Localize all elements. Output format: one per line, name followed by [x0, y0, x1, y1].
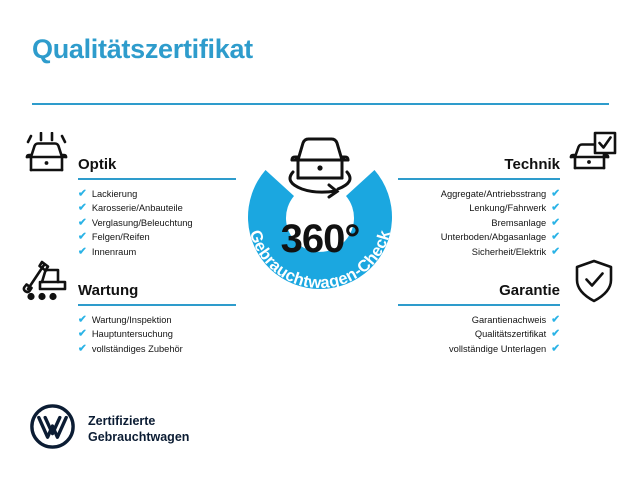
check-icon: ✔ — [551, 232, 560, 243]
list-item-label: Innenraum — [92, 247, 136, 257]
list-item-label: Unterboden/Abgasanlage — [441, 232, 546, 242]
check-icon: ✔ — [551, 203, 560, 214]
section-optik: Optik ✔ Lackierung ✔ Karosserie/Anbautei… — [78, 140, 236, 257]
section-garantie-header: Garantie — [398, 266, 560, 300]
section-technik-items: Aggregate/Antriebsstrang ✔ Lenkung/Fahrw… — [398, 189, 560, 258]
list-item: vollständige Unterlagen ✔ — [398, 344, 560, 355]
car-shine-icon — [22, 132, 72, 181]
list-item-label: Aggregate/Antriebsstrang — [441, 189, 546, 199]
wrench-car-icon — [20, 258, 72, 307]
section-divider — [78, 178, 236, 180]
check-icon: ✔ — [551, 246, 560, 257]
section-title: Garantie — [499, 283, 560, 300]
list-item: Sicherheit/Elektrik ✔ — [398, 247, 560, 258]
title-divider — [32, 103, 609, 105]
check-icon: ✔ — [78, 329, 87, 340]
list-item: Aggregate/Antriebsstrang ✔ — [398, 189, 560, 200]
list-item: Bremsanlage ✔ — [398, 218, 560, 229]
list-item-label: Garantienachweis — [472, 315, 546, 325]
check-icon: ✔ — [78, 188, 87, 199]
quality-certificate-page: Qualitätszertifikat — [0, 0, 640, 480]
list-item: ✔ vollständiges Zubehör — [78, 344, 236, 355]
footer-branding: Zertifizierte Gebrauchtwagen — [30, 404, 189, 454]
section-technik: Technik Aggregate/Antriebsstrang ✔ Lenku… — [398, 140, 560, 257]
car-front-rotate-icon — [290, 139, 350, 197]
list-item: ✔ Lackierung — [78, 189, 236, 200]
list-item-label: Wartung/Inspektion — [92, 315, 172, 325]
check-icon: ✔ — [78, 217, 87, 228]
list-item-label: Bremsanlage — [491, 218, 546, 228]
list-item: Unterboden/Abgasanlage ✔ — [398, 232, 560, 243]
check-icon: ✔ — [78, 314, 87, 325]
list-item-label: Hauptuntersuchung — [92, 329, 173, 339]
section-optik-header: Optik — [78, 140, 236, 174]
check-icon: ✔ — [551, 217, 560, 228]
check-icon: ✔ — [551, 329, 560, 340]
section-garantie-items: Garantienachweis ✔ Qualitätszertifikat ✔… — [398, 315, 560, 355]
list-item: ✔ Felgen/Reifen — [78, 232, 236, 243]
section-title: Technik — [504, 157, 560, 174]
list-item: Garantienachweis ✔ — [398, 315, 560, 326]
section-technik-header: Technik — [398, 140, 560, 174]
list-item: ✔ Verglasung/Beleuchtung — [78, 218, 236, 229]
vw-logo — [30, 404, 75, 454]
check-icon: ✔ — [78, 232, 87, 243]
list-item-label: vollständige Unterlagen — [449, 344, 546, 354]
section-wartung-header: Wartung — [78, 266, 236, 300]
check-icon: ✔ — [78, 246, 87, 257]
footer-line-1: Zertifizierte — [88, 413, 189, 429]
list-item: ✔ Innenraum — [78, 247, 236, 258]
check-icon: ✔ — [551, 343, 560, 354]
car-checkbox-icon — [568, 131, 618, 180]
page-title: Qualitätszertifikat — [32, 34, 253, 65]
list-item-label: Karosserie/Anbauteile — [92, 203, 183, 213]
section-divider — [398, 178, 560, 180]
list-item-label: Sicherheit/Elektrik — [472, 247, 546, 257]
list-item: Qualitätszertifikat ✔ — [398, 329, 560, 340]
footer-text: Zertifizierte Gebrauchtwagen — [88, 413, 189, 445]
shield-check-icon — [572, 258, 616, 309]
check-icon: ✔ — [551, 188, 560, 199]
section-divider — [78, 304, 236, 306]
list-item-label: Lenkung/Fahrwerk — [469, 203, 546, 213]
check-icon: ✔ — [551, 314, 560, 325]
badge-center-label: 360° — [281, 217, 360, 261]
section-wartung-items: ✔ Wartung/Inspektion ✔ Hauptuntersuchung… — [78, 315, 236, 355]
section-garantie: Garantie Garantienachweis ✔ Qualitätszer… — [398, 266, 560, 354]
list-item: ✔ Karosserie/Anbauteile — [78, 203, 236, 214]
section-title: Wartung — [78, 283, 138, 300]
check-icon: ✔ — [78, 203, 87, 214]
check-icon: ✔ — [78, 343, 87, 354]
list-item-label: Qualitätszertifikat — [475, 329, 546, 339]
footer-line-2: Gebrauchtwagen — [88, 429, 189, 445]
badge-360-gebrauchtwagen-check: Gebrauchtwagen-Check 360 — [224, 118, 416, 314]
section-wartung: Wartung ✔ Wartung/Inspektion ✔ Hauptunte… — [78, 266, 236, 354]
list-item-label: Verglasung/Beleuchtung — [92, 218, 193, 228]
section-divider — [398, 304, 560, 306]
section-title: Optik — [78, 157, 116, 174]
list-item-label: Felgen/Reifen — [92, 232, 150, 242]
list-item: ✔ Hauptuntersuchung — [78, 329, 236, 340]
list-item: ✔ Wartung/Inspektion — [78, 315, 236, 326]
section-optik-items: ✔ Lackierung ✔ Karosserie/Anbauteile ✔ V… — [78, 189, 236, 258]
list-item-label: vollständiges Zubehör — [92, 344, 183, 354]
list-item-label: Lackierung — [92, 189, 137, 199]
list-item: Lenkung/Fahrwerk ✔ — [398, 203, 560, 214]
